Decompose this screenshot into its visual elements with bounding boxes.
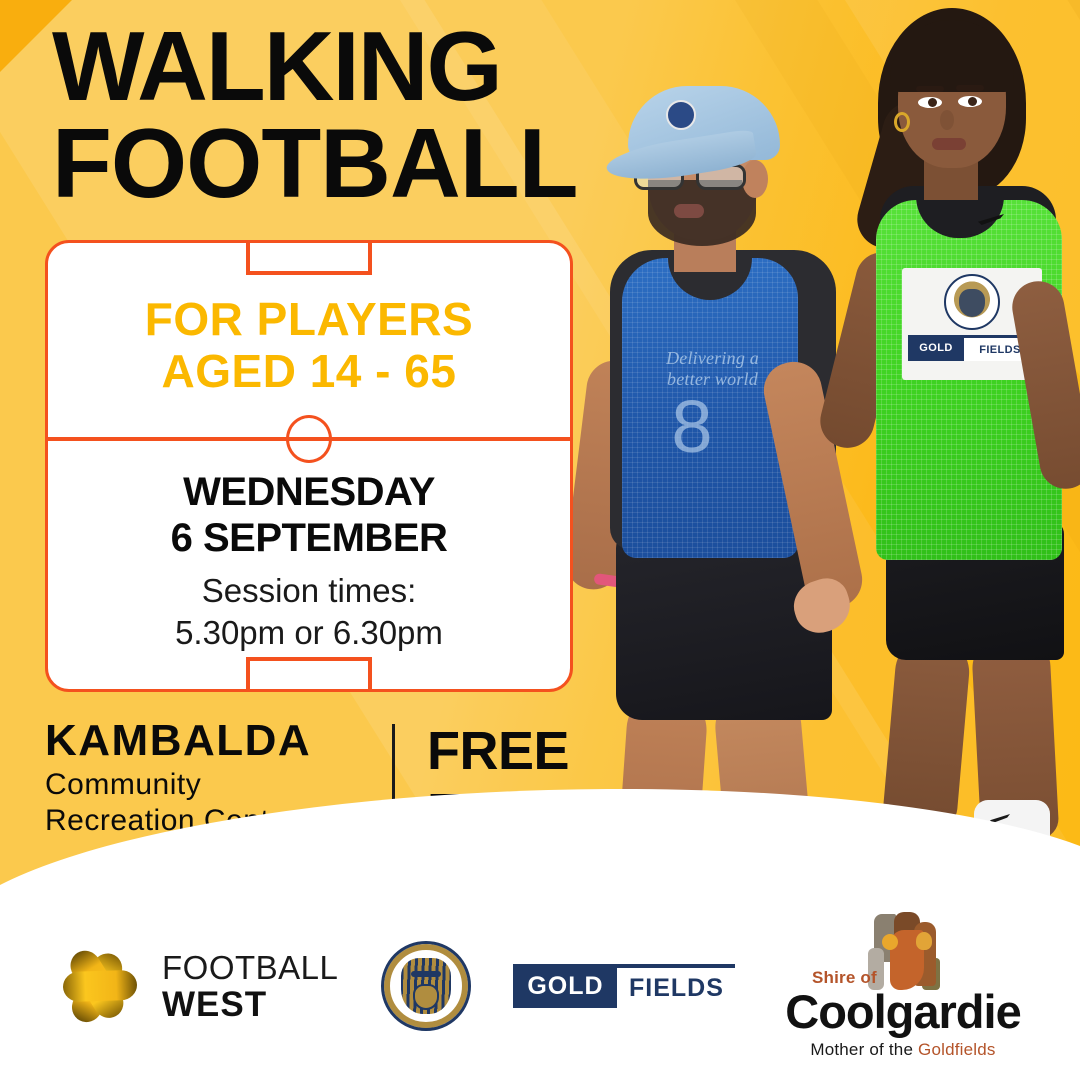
pitch-goal-box-top [246, 240, 372, 275]
fw-blade-3 [62, 970, 137, 1003]
info-card: FOR PLAYERS AGED 14 - 65 WEDNESDAY 6 SEP… [45, 240, 573, 692]
football-west-logo-icon [52, 940, 144, 1032]
female-left-brow [916, 86, 944, 92]
lion-brow [411, 971, 441, 977]
football-west-line-2: WEST [162, 987, 338, 1022]
male-cap-badge [666, 100, 696, 130]
male-mouth [674, 204, 704, 218]
headline-line-2: FOOTBALL [52, 115, 652, 212]
coolgardie-name: Coolgardie [778, 988, 1028, 1036]
venue-sub-line-1: Community [45, 768, 365, 802]
sponsor-gold-fields: GOLD FIELDS [513, 964, 735, 1008]
female-right-eye [958, 96, 982, 107]
female-right-brow [956, 85, 984, 91]
coolgardie-tagline-prefix: Mother of the [810, 1040, 918, 1059]
gold-fields-fields-text: FIELDS [617, 964, 735, 1008]
lion-head-icon [944, 274, 1000, 330]
poster-canvas: Delivering a better world 8 [0, 0, 1080, 1080]
gold-fields-lion-badge-icon [381, 941, 471, 1031]
sponsor-logos-row: FOOTBALL WEST GOLD FIELDS [0, 898, 1080, 1080]
coolgardie-dot-2 [916, 932, 932, 950]
age-range-text: FOR PLAYERS AGED 14 - 65 [48, 293, 570, 397]
male-bib-number: 8 [632, 390, 752, 464]
pitch-center-circle [286, 415, 332, 463]
hoop-earring-icon [894, 112, 910, 132]
age-line-2: AGED 14 - 65 [48, 345, 570, 397]
sessions-value: 5.30pm or 6.30pm [48, 612, 570, 654]
gold-fields-gold-text: GOLD [513, 964, 617, 1008]
coolgardie-tagline-highlight: Goldfields [918, 1040, 996, 1059]
date-line-2: 6 SEPTEMBER [48, 515, 570, 561]
event-date-text: WEDNESDAY 6 SEPTEMBER [48, 469, 570, 561]
headline-line-1: WALKING [52, 18, 652, 115]
sponsor-footer: FOOTBALL WEST GOLD FIELDS [0, 898, 1080, 1080]
patch-gold-text: GOLD [908, 335, 964, 361]
lion-badge-face [401, 958, 451, 1014]
female-left-leg [882, 633, 972, 829]
sponsor-shire-of-coolgardie: Shire of Coolgardie Mother of the Goldfi… [778, 912, 1028, 1060]
sessions-label: Session times: [48, 570, 570, 612]
page-title: WALKING FOOTBALL [52, 18, 652, 212]
age-line-1: FOR PLAYERS [48, 293, 570, 345]
football-west-wordmark: FOOTBALL WEST [162, 951, 338, 1022]
lion-snout [413, 984, 439, 1010]
male-bib-slogan-line1: Delivering a [630, 348, 795, 369]
football-west-line-1: FOOTBALL [162, 951, 338, 984]
date-line-1: WEDNESDAY [48, 469, 570, 515]
venue-name: KAMBALDA [45, 716, 365, 766]
pitch-goal-box-bottom [246, 657, 372, 692]
session-times-text: Session times: 5.30pm or 6.30pm [48, 570, 570, 654]
female-left-eye [918, 97, 942, 108]
free-event-line-1: FREE [427, 720, 657, 782]
shire-of-label: Shire of [812, 968, 877, 988]
female-player: GOLD FIELDS [828, 0, 1080, 920]
female-nose [940, 110, 954, 130]
female-lips [932, 138, 966, 150]
coolgardie-tagline: Mother of the Goldfields [778, 1040, 1028, 1060]
coolgardie-dot-1 [882, 934, 898, 950]
sponsor-football-west: FOOTBALL WEST [52, 940, 338, 1032]
